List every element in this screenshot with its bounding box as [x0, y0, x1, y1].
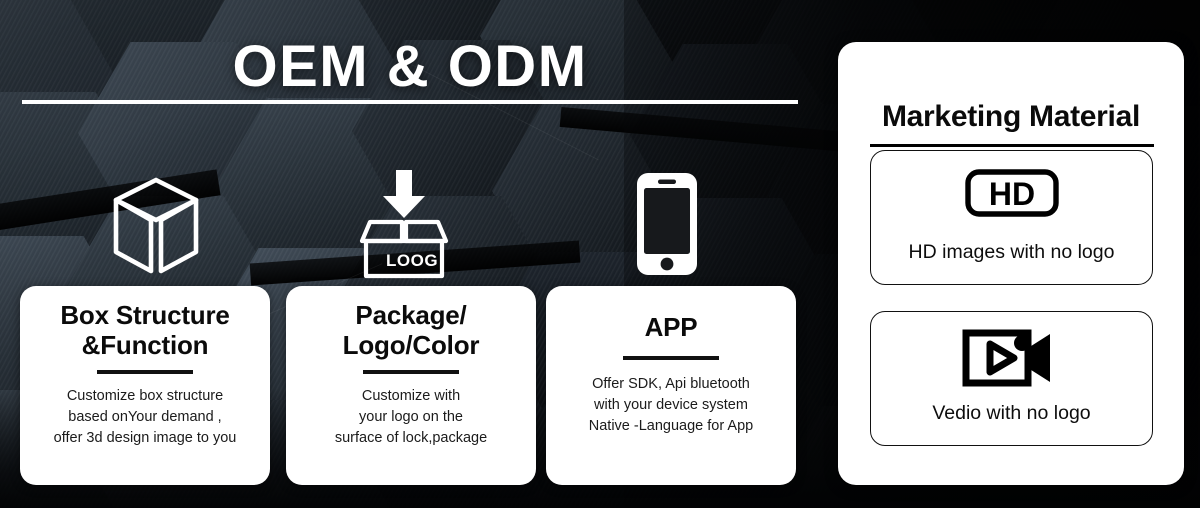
package-box-text: LOOG [386, 251, 438, 270]
page-title: OEM & ODM [0, 36, 820, 98]
hd-badge-icon: HD [871, 169, 1152, 217]
feature-card-package-logo-color[interactable]: Package/ Logo/Color Customize with your … [286, 286, 536, 485]
card-title: APP [556, 300, 786, 342]
app-phone-icon [636, 172, 698, 276]
title-divider [22, 100, 798, 104]
card-description: Customize box structure based onYour dem… [30, 386, 260, 449]
marketing-material-panel: Marketing Material HD HD images with no … [838, 42, 1184, 485]
card-divider [623, 356, 719, 360]
promo-banner: OEM & ODM LOOG [0, 0, 1200, 508]
panel-title: Marketing Material [838, 100, 1184, 134]
marketing-item-label: Vedio with no logo [871, 402, 1152, 425]
marketing-item-hd-images[interactable]: HD HD images with no logo [870, 150, 1153, 285]
marketing-item-video[interactable]: Vedio with no logo [870, 311, 1153, 446]
card-description: Offer SDK, Api bluetooth with your devic… [556, 374, 786, 437]
feature-card-app[interactable]: APP Offer SDK, Api bluetooth with your d… [546, 286, 796, 485]
hd-badge-text: HD [988, 176, 1034, 212]
card-description: Customize with your logo on the surface … [296, 386, 526, 449]
card-divider [363, 370, 459, 374]
card-divider [97, 370, 193, 374]
card-title: Package/ Logo/Color [296, 300, 526, 360]
box-structure-icon [108, 174, 204, 278]
card-title: Box Structure &Function [30, 300, 260, 360]
package-logo-icon: LOOG [352, 168, 456, 280]
marketing-item-label: HD images with no logo [871, 241, 1152, 264]
panel-divider [870, 144, 1154, 147]
feature-card-box-structure[interactable]: Box Structure &Function Customize box st… [20, 286, 270, 485]
video-camera-icon [871, 326, 1152, 388]
